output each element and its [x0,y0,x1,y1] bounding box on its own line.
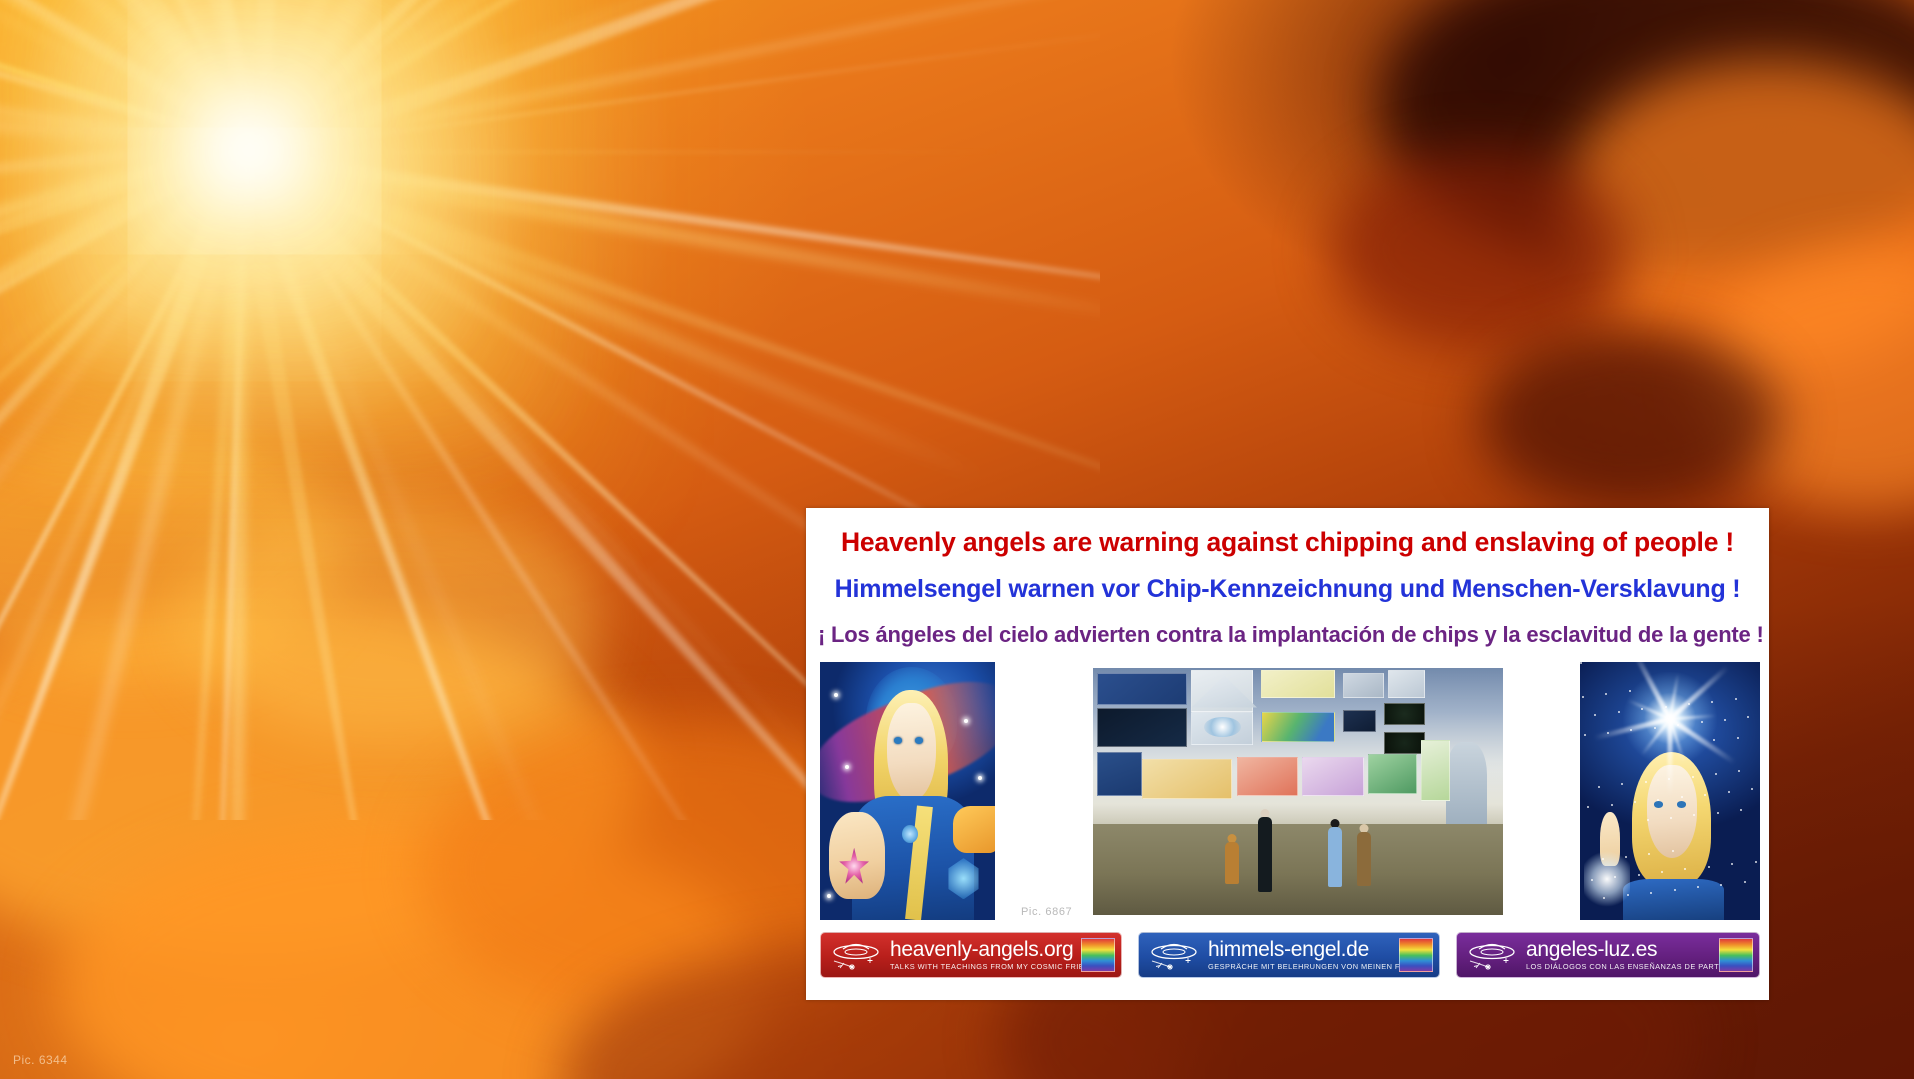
banner-domain: angeles-luz.es [1526,939,1719,960]
star-field-dot [1715,773,1717,775]
star-field-dot [1607,732,1609,734]
cloud-icon [1480,330,1780,510]
star-field-dot [1670,817,1672,819]
star-field-dot [1728,791,1730,793]
gallery-painting [1097,673,1187,705]
star-field-dot [1587,806,1589,808]
banner-domain: himmels-engel.de [1208,939,1399,960]
gallery-visitor [1220,834,1245,908]
star-field-dot [1605,693,1607,695]
star-field-dot [1674,889,1676,891]
gallery-visitor [1351,824,1376,908]
gallery-painting [1343,673,1384,698]
star-field-dot [1755,861,1757,863]
star-field-dot [1618,711,1620,713]
star-field-dot [1661,871,1663,873]
star-field-dot [1594,714,1596,716]
flyer-panel: Heavenly angels are warning against chip… [806,508,1769,1000]
gallery-painting [1343,710,1376,732]
gallery-visitor [1253,809,1278,908]
star-field-dot [1621,783,1623,785]
banner-tagline: GESPRÄCHE MIT BELEHRUNGEN VON MEINEN FRE… [1208,962,1399,971]
headline-english: Heavenly angels are warning against chip… [818,527,1757,558]
star-field-dot [1638,874,1640,876]
star-field-dot [1704,794,1706,796]
star-field-dot [1580,662,1582,664]
star-field-dot [1744,881,1746,883]
star-field-dot [1584,734,1586,736]
star-field-dot [1738,770,1740,772]
headline-german: Himmelsengel warnen vor Chip-Kennzeichnu… [818,575,1757,604]
star-field-dot [1591,879,1593,881]
cloud-icon [1330,150,1630,350]
gallery-painting [1261,670,1335,697]
star-field-dot [1598,786,1600,788]
star-field-dot [1645,781,1647,783]
rainbow-swatch [1719,938,1753,972]
headline-spanish: ¡ Los ángeles del cielo advierten contra… [818,622,1757,648]
star-field-dot [1751,788,1753,790]
website-banner-row: heavenly-angels.org TALKS WITH TEACHINGS… [818,932,1757,980]
ufo-icon [826,935,888,975]
ufo-icon [1144,935,1206,975]
star-field-dot [1717,812,1719,814]
flyer-image-row: Pic. 6867 [818,662,1757,920]
ufo-icon [1462,935,1524,975]
star-field-dot [1650,892,1652,894]
gallery-painting [1421,740,1450,802]
rainbow-swatch [1081,938,1115,972]
gallery-painting [1302,757,1364,797]
gallery-painting [1368,754,1417,794]
star-field-dot [1582,696,1584,698]
angel-blue-raised-palm-image [820,662,995,920]
banner-angeles-luz-es[interactable]: angeles-luz.es LOS DIÁLOGOS CON LAS ENSE… [1456,932,1760,978]
star-field-dot [1692,776,1694,778]
gallery-painting [1388,670,1425,697]
gallery-paintings-visitors-image [1093,668,1503,915]
center-image-pic-label: Pic. 6867 [1021,906,1072,918]
sun-ray [250,150,1010,154]
banner-heavenly-angels-org[interactable]: heavenly-angels.org TALKS WITH TEACHINGS… [820,932,1122,978]
eye-of-providence-icon [1204,717,1241,737]
star-field-dot [1625,856,1627,858]
star-field-dot [1724,719,1726,721]
star-field-dot [1611,804,1613,806]
gallery-painting [1384,732,1425,754]
star-field-dot [1654,727,1656,729]
star-field-dot [1708,866,1710,868]
star-field-dot [1735,698,1737,700]
star-field-dot [1602,858,1604,860]
angel-star-raised-finger-image [1580,662,1760,920]
star-field-dot [1665,706,1667,708]
banner-tagline: TALKS WITH TEACHINGS FROM MY COSMIC FRIE… [890,962,1081,971]
banner-himmels-engel-de[interactable]: himmels-engel.de GESPRÄCHE MIT BELEHRUNG… [1138,932,1440,978]
star-field-dot [1740,809,1742,811]
banner-domain: heavenly-angels.org [890,939,1081,960]
star-field-dot [1737,737,1739,739]
rainbow-swatch [1399,938,1433,972]
star-field-dot [1731,863,1733,865]
gallery-painting [1097,708,1187,748]
star-field-dot [1681,796,1683,798]
background-pic-label: Pic. 6344 [13,1053,68,1067]
gallery-painting [1384,703,1425,725]
gallery-painting [1142,759,1232,799]
gallery-painting [1097,752,1142,796]
gallery-painting [1237,757,1299,797]
gallery-visitor [1323,819,1348,908]
star-field-dot [1747,716,1749,718]
banner-tagline: LOS DIÁLOGOS CON LAS ENSEÑANZAS DE PARTE… [1526,962,1719,971]
gallery-painting [1261,712,1335,742]
screenshot-canvas: Pic. 6344 Heavenly angels are warning ag… [0,0,1914,1079]
